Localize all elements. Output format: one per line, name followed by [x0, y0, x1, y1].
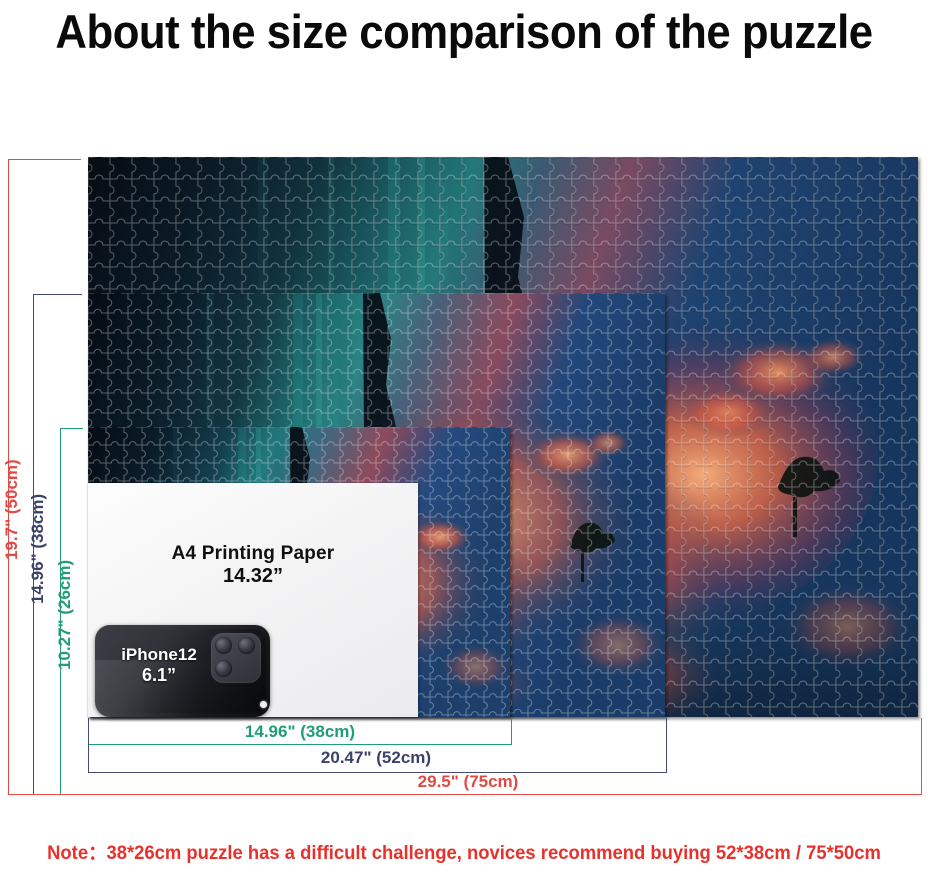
dimension-label-vertical-small: 10.27" (26cm) — [55, 560, 75, 670]
note-text: Note：38*26cm puzzle has a difficult chal… — [14, 838, 914, 865]
camera-lens-icon — [238, 637, 255, 654]
dimension-label-horizontal-large: 29.5" (75cm) — [368, 772, 568, 792]
dimension-label-vertical-large: 19.7" (50cm) — [2, 459, 22, 560]
iphone-name: iPhone12 — [95, 645, 223, 665]
a4-paper-label: A4 Printing Paper 14.32” — [88, 543, 418, 589]
iphone-reference: iPhone12 6.1” — [95, 625, 270, 717]
dimension-label-vertical-medium: 14.96" (38cm) — [28, 494, 48, 604]
iphone-diagonal: 6.1” — [95, 665, 223, 687]
camera-flash-icon — [260, 701, 267, 708]
iphone-label: iPhone12 6.1” — [95, 645, 223, 687]
page-title: About the size comparison of the puzzle — [32, 2, 895, 64]
a4-paper-name: A4 Printing Paper — [88, 543, 418, 565]
dimension-label-horizontal-small: 14.96" (38cm) — [190, 722, 410, 742]
a4-paper-diagonal: 14.32” — [88, 565, 418, 589]
dimension-label-horizontal-medium: 20.47" (52cm) — [266, 748, 486, 768]
